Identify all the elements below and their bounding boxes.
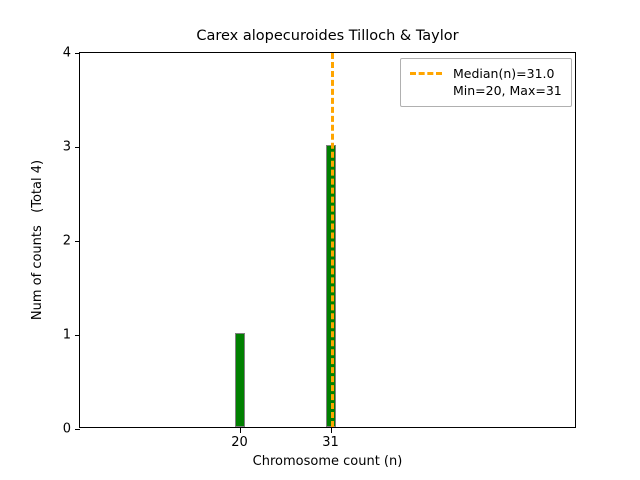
y-tick-label: 0 [63,422,71,437]
y-tick-mark [75,335,81,336]
x-tick-mark [240,427,241,433]
plot-inner: 0 1 2 3 4 20 [80,53,575,427]
y-tick-mark [75,147,81,148]
chart-title: Carex alopecuroides Tilloch & Taylor [79,28,576,44]
chart-legend: Median(n)=31.0 Min=20, Max=31 [400,58,572,107]
dashed-line-icon [410,72,442,75]
x-tick-label: 20 [231,435,248,450]
y-tick-mark [75,53,81,54]
x-axis-label: Chromosome count (n) [79,454,576,469]
plot-area: 0 1 2 3 4 20 [79,52,576,428]
legend-label-minmax: Min=20, Max=31 [453,82,562,99]
bar-20 [235,333,245,427]
x-tick-mark [331,427,332,433]
legend-entry-minmax: Min=20, Max=31 [410,82,562,99]
chart-figure: Carex alopecuroides Tilloch & Taylor 0 1… [0,0,640,480]
y-tick-mark [75,429,81,430]
y-tick-label: 3 [63,140,71,155]
y-tick-label: 4 [63,46,71,61]
y-tick-mark [75,241,81,242]
legend-label-median: Median(n)=31.0 [453,65,554,82]
y-tick-label: 1 [63,328,71,343]
x-tick-label: 31 [322,435,339,450]
y-axis-label: Num of counts (Total 4) [30,52,52,428]
legend-entry-median: Median(n)=31.0 [410,65,562,82]
median-line [331,53,334,427]
y-tick-label: 2 [63,234,71,249]
